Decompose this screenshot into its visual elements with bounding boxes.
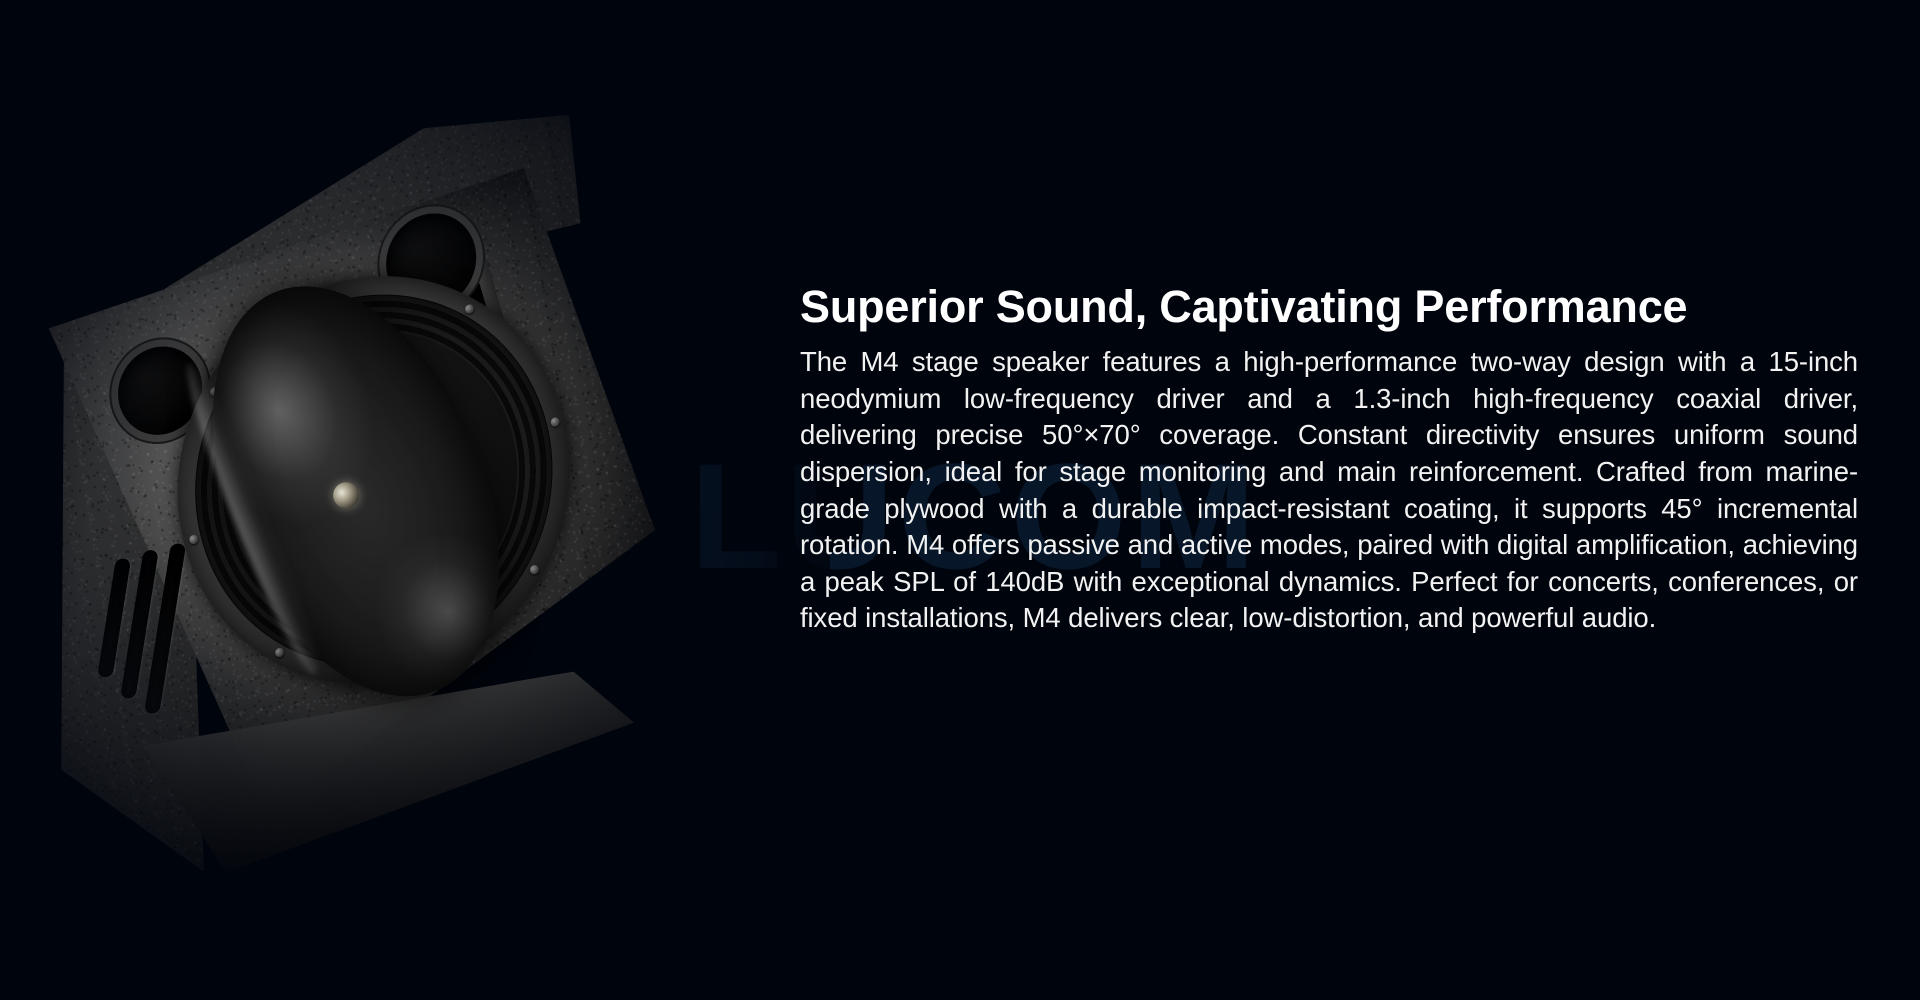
- phase-plug: [329, 478, 363, 512]
- page-title: Superior Sound, Captivating Performance: [800, 283, 1858, 330]
- speaker-illustration: M4 STAGE MONITOR: [0, 120, 790, 880]
- speaker-cabinet: M4 STAGE MONITOR: [0, 101, 705, 879]
- product-description: The M4 stage speaker features a high-per…: [800, 344, 1858, 637]
- copy-block: Superior Sound, Captivating Performance …: [800, 283, 1858, 637]
- product-image: M4 STAGE MONITOR: [0, 120, 790, 880]
- product-feature-banner: LUCOM: [0, 0, 1920, 1000]
